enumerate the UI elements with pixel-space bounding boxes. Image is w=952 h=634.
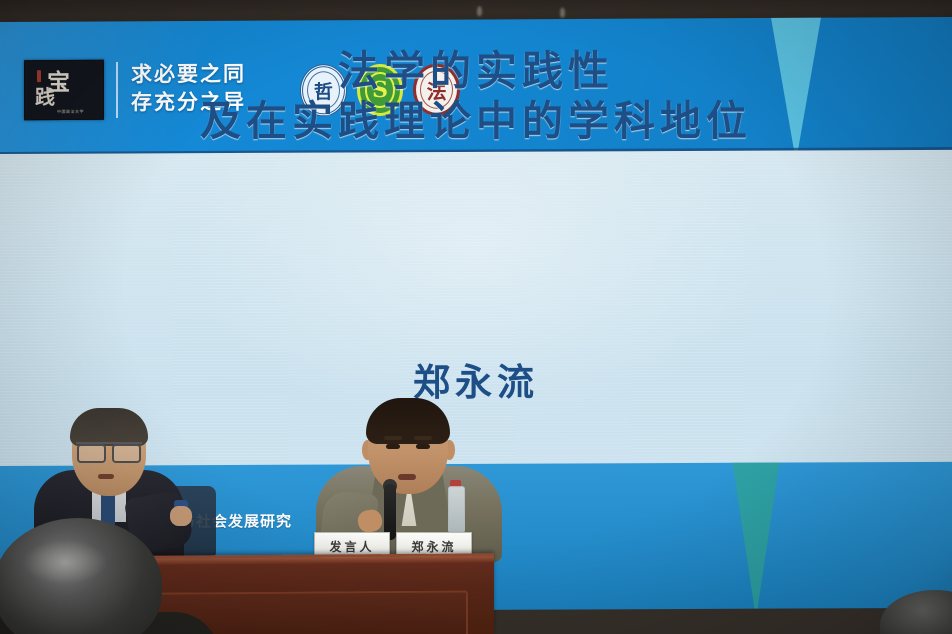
speaker-eye-left [386, 444, 400, 449]
slide-title: 法学的实践性 及在实践理论中的学科地位 [0, 46, 952, 146]
conference-photo: 宝 践 中国政法大学 求必要之同 存充分之异 哲 S 法 法学的实践性 及在实践… [0, 0, 952, 634]
eyeglasses-icon [76, 442, 142, 461]
speaker-mouth [398, 474, 416, 480]
water-bottle [448, 486, 465, 534]
slide-author: 郑永流 [0, 352, 952, 406]
audience-hair-highlight [22, 540, 108, 584]
seated-elder-hair [70, 408, 148, 446]
banner-triangle-decoration-2 [732, 462, 780, 618]
speaker-eye-right [416, 444, 430, 449]
speaker-brow-right [414, 436, 432, 440]
slide-title-line-2: 及在实践理论中的学科地位 [0, 96, 952, 146]
ceiling-light-spot [560, 8, 565, 18]
seated-elder-hand [170, 506, 192, 526]
seated-elder-mouth [98, 474, 114, 479]
speaker-brow-left [384, 436, 402, 440]
ceiling-light-spot [477, 6, 482, 16]
slide-title-line-1: 法学的实践性 [0, 46, 952, 96]
desk-lip [104, 556, 494, 565]
